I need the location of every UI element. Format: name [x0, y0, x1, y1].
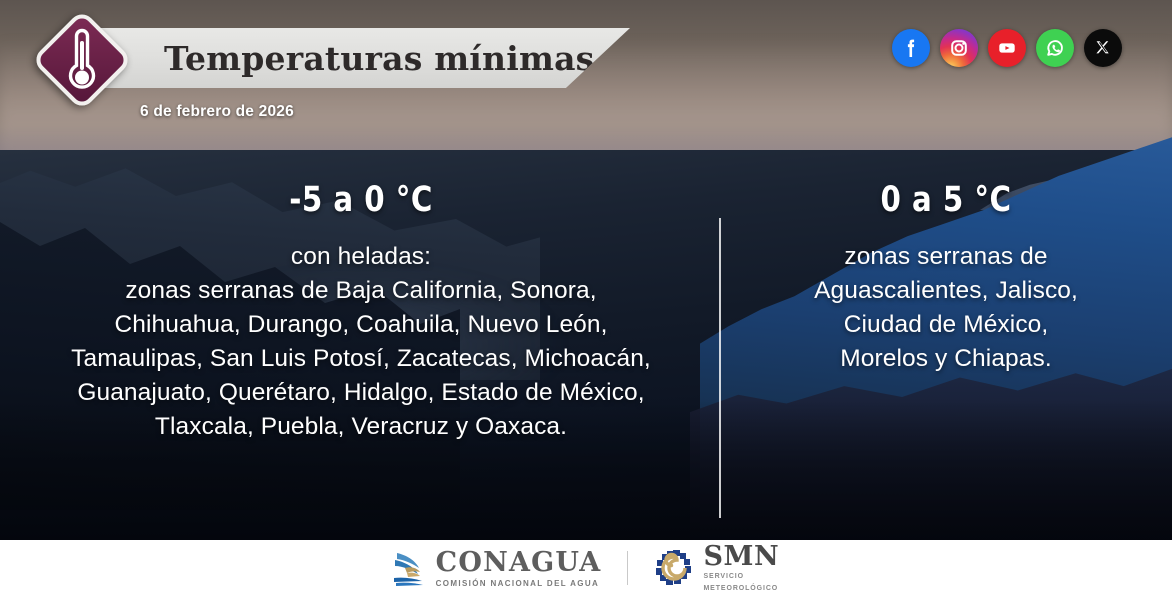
right-region-line: Aguascalientes, Jalisco, [736, 274, 1156, 308]
right-region-line: Ciudad de México, [736, 308, 1156, 342]
x-icon[interactable] [1084, 29, 1122, 67]
left-region-line: zonas serranas de Baja California, Sonor… [18, 274, 704, 308]
youtube-icon[interactable] [988, 29, 1026, 67]
smn-subtitle-line1: SERVICIO [703, 573, 779, 582]
left-region-line: Guanajuato, Querétaro, Hidalgo, Estado d… [18, 376, 704, 410]
right-region-line: zonas serranas de [736, 240, 1156, 274]
left-qualifier: con heladas: [18, 240, 704, 274]
temperature-column-right: 0 a 5 °C zonas serranas de Aguascaliente… [736, 180, 1156, 376]
smn-logo: SMN SERVICIO METEOROLÓGICO [654, 543, 779, 594]
temperature-range-left: -5 a 0 °C [42, 180, 680, 220]
weather-poster: Temperaturas mínimas 6 de febrero de 202… [0, 0, 1172, 596]
temperature-range-right: 0 a 5 °C [751, 180, 1142, 220]
facebook-icon[interactable] [892, 29, 930, 67]
left-region-line: Tlaxcala, Puebla, Veracruz y Oaxaca. [18, 410, 704, 444]
smn-name: SMN [703, 543, 779, 570]
temperature-column-left: -5 a 0 °C con heladas: zonas serranas de… [18, 180, 704, 444]
thermometer-icon [30, 8, 134, 112]
conagua-eagle-icon [393, 548, 427, 588]
instagram-icon[interactable] [940, 29, 978, 67]
right-region-line: Morelos y Chiapas. [736, 342, 1156, 376]
page-title: Temperaturas mínimas [164, 39, 594, 78]
smn-subtitle-line2: METEOROLÓGICO [703, 585, 779, 594]
conagua-subtitle: COMISIÓN NACIONAL DEL AGUA [436, 579, 602, 588]
smn-spiral-icon [654, 548, 694, 588]
conagua-text: CONAGUA COMISIÓN NACIONAL DEL AGUA [436, 549, 602, 588]
conagua-logo: CONAGUA COMISIÓN NACIONAL DEL AGUA [393, 548, 602, 588]
footer-bar: CONAGUA COMISIÓN NACIONAL DEL AGUA SMN [0, 540, 1172, 596]
smn-text: SMN SERVICIO METEOROLÓGICO [703, 543, 779, 594]
conagua-name: CONAGUA [436, 549, 602, 576]
title-banner: Temperaturas mínimas [96, 28, 630, 88]
left-region-line: Tamaulipas, San Luis Potosí, Zacatecas, … [18, 342, 704, 376]
thermometer-badge [30, 8, 134, 112]
social-links [892, 29, 1122, 67]
whatsapp-icon[interactable] [1036, 29, 1074, 67]
poster-date: 6 de febrero de 2026 [140, 103, 294, 121]
footer-separator [627, 551, 628, 585]
column-divider [719, 218, 721, 518]
left-region-line: Chihuahua, Durango, Coahuila, Nuevo León… [18, 308, 704, 342]
